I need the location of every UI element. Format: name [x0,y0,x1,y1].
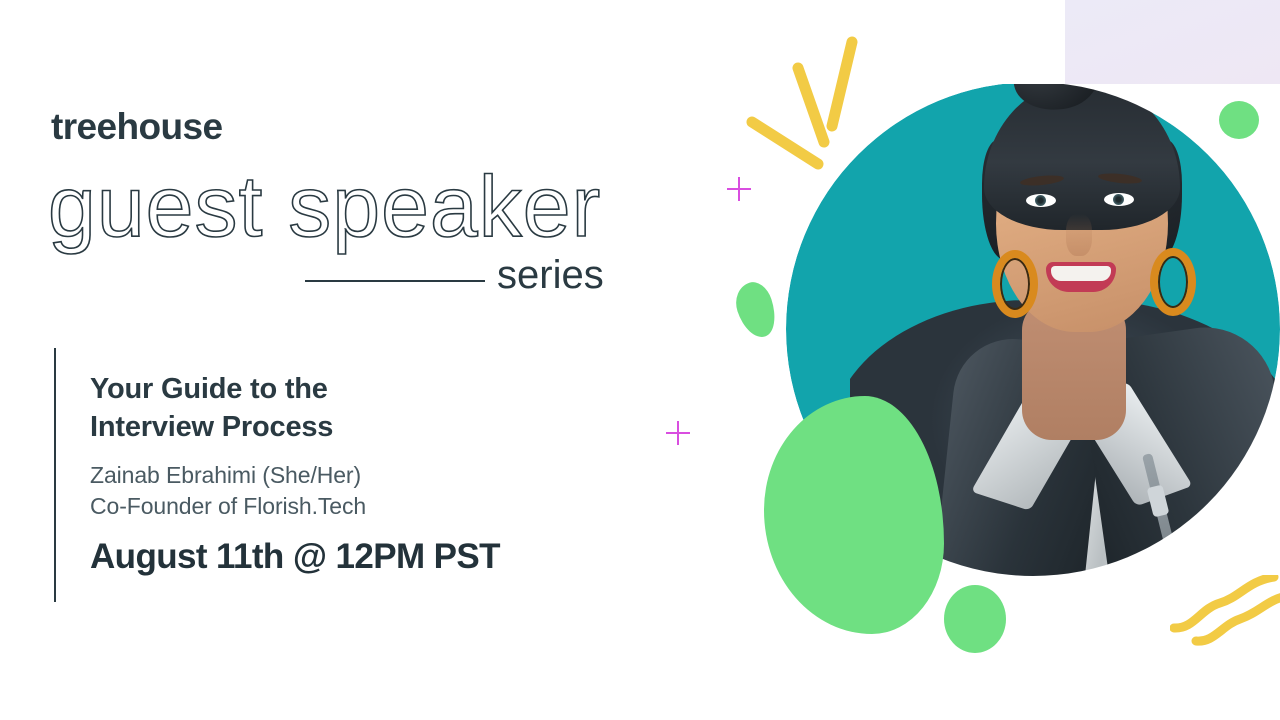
earring-right-icon [1150,248,1196,316]
series-divider-rule [305,280,485,282]
series-label: series [497,255,604,295]
talk-title: Your Guide to the Interview Process [90,370,610,447]
plus-mark-icon-upper [727,177,751,201]
green-circle-icon-bottom [944,585,1006,653]
slide-canvas: treehouse guest speaker series Your Guid… [0,0,1280,720]
mouth [1046,262,1116,292]
vertical-accent-rule [54,348,56,602]
speaker-role: Co-Founder of Florish.Tech [90,492,366,522]
talk-title-line-2: Interview Process [90,411,333,443]
event-datetime: August 11th @ 12PM PST [90,536,500,578]
brand-wordmark: treehouse [51,108,222,145]
eye-left [1026,194,1056,207]
svg-text:guest speaker: guest speaker [48,160,601,255]
plus-mark-icon-lower [666,421,690,445]
organic-blob-icon-small [730,278,782,342]
organic-blob-icon-large [764,396,944,634]
eye-right [1104,193,1134,206]
speaker-name: Zainab Ebrahimi (She/Her) [90,461,361,491]
nose [1066,214,1092,256]
green-circle-icon-top-right [1219,101,1259,139]
headline-outline-text: guest speaker [38,160,638,260]
talk-title-line-1: Your Guide to the [90,373,328,405]
earring-left-icon [992,250,1038,318]
